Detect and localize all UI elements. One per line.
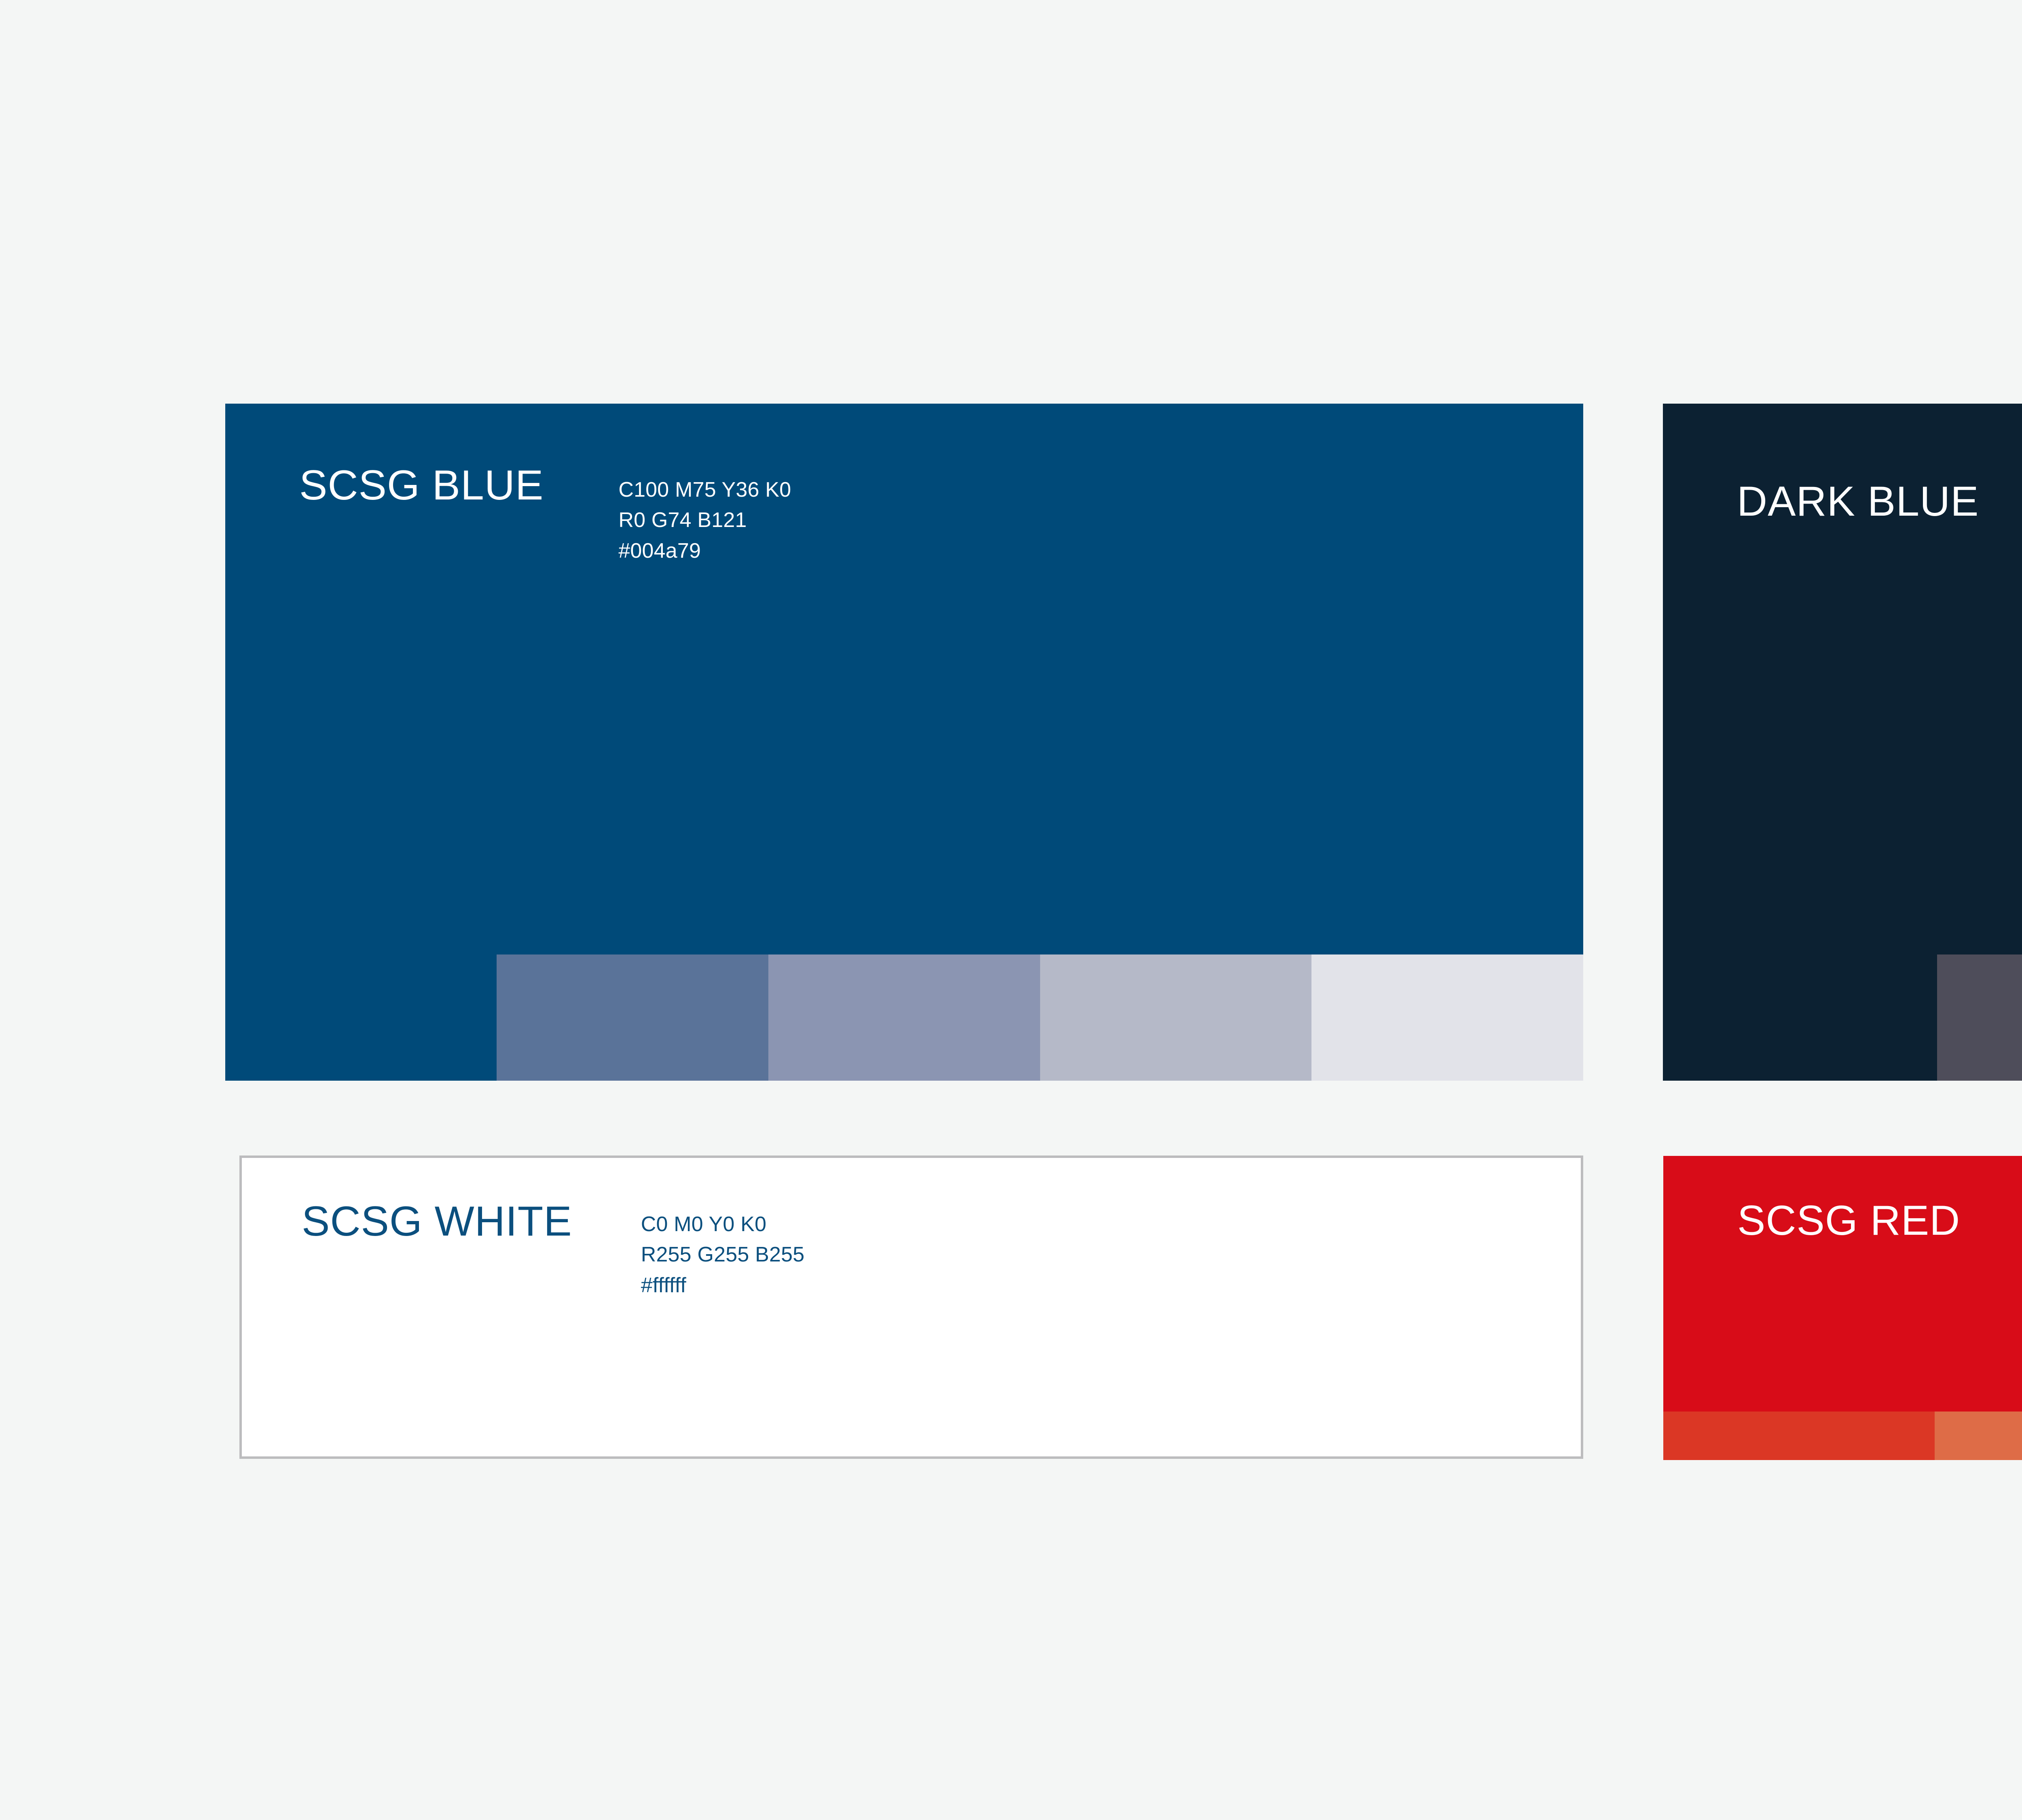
- tint-swatch[interactable]: [1663, 1412, 1935, 1460]
- swatch-header: SCSG RED C10 M100 Y100 K0 R216 G12 B24 #…: [1737, 1200, 2022, 1300]
- swatch-name-dark-blue: DARK BLUE: [1737, 480, 1979, 523]
- hex-value: #004a79: [618, 536, 791, 566]
- color-palette-board: SCSG BLUE C100 M75 Y36 K0 R0 G74 B121 #0…: [0, 0, 2022, 1820]
- tint-swatch[interactable]: [497, 954, 768, 1081]
- swatch-name-scsg-red: SCSG RED: [1737, 1200, 1960, 1242]
- color-swatch-dark-blue[interactable]: DARK BLUE C96 M86 Y66 K50 R8 G33 B49 #08…: [1663, 404, 2022, 1081]
- tint-swatch[interactable]: [1311, 954, 1583, 1081]
- tint-swatch[interactable]: [1040, 954, 1312, 1081]
- tint-strip-scsg-red: [1663, 1412, 2022, 1460]
- tint-swatch[interactable]: [1937, 954, 2022, 1081]
- swatch-specs: C0 M0 Y0 K0 R255 G255 B255 #ffffff: [641, 1209, 805, 1301]
- color-swatch-scsg-blue[interactable]: SCSG BLUE C100 M75 Y36 K0 R0 G74 B121 #0…: [225, 404, 1583, 1081]
- swatch-name-scsg-blue: SCSG BLUE: [299, 464, 544, 506]
- tint-swatch[interactable]: [768, 954, 1040, 1081]
- tint-swatch[interactable]: [1935, 1412, 2022, 1460]
- swatch-header: SCSG BLUE C100 M75 Y36 K0 R0 G74 B121 #0…: [299, 464, 791, 566]
- swatch-name-scsg-white: SCSG WHITE: [302, 1200, 572, 1242]
- hex-value: #ffffff: [641, 1270, 805, 1301]
- cmyk-value: C100 M75 Y36 K0: [618, 475, 791, 505]
- cmyk-value: C0 M0 Y0 K0: [641, 1209, 805, 1240]
- rgb-value: R255 G255 B255: [641, 1240, 805, 1270]
- color-swatch-scsg-red[interactable]: SCSG RED C10 M100 Y100 K0 R216 G12 B24 #…: [1663, 1156, 2022, 1460]
- rgb-value: R0 G74 B121: [618, 505, 791, 535]
- tint-strip-dark-blue: [1937, 954, 2022, 1081]
- swatch-specs: C100 M75 Y36 K0 R0 G74 B121 #004a79: [618, 475, 791, 566]
- color-swatch-scsg-white[interactable]: SCSG WHITE C0 M0 Y0 K0 R255 G255 B255 #f…: [239, 1155, 1583, 1459]
- swatch-header: SCSG WHITE C0 M0 Y0 K0 R255 G255 B255 #f…: [302, 1200, 804, 1301]
- tint-strip-scsg-blue: [497, 954, 1583, 1081]
- swatch-header: DARK BLUE C96 M86 Y66 K50 R8 G33 B49 #08…: [1737, 480, 2022, 582]
